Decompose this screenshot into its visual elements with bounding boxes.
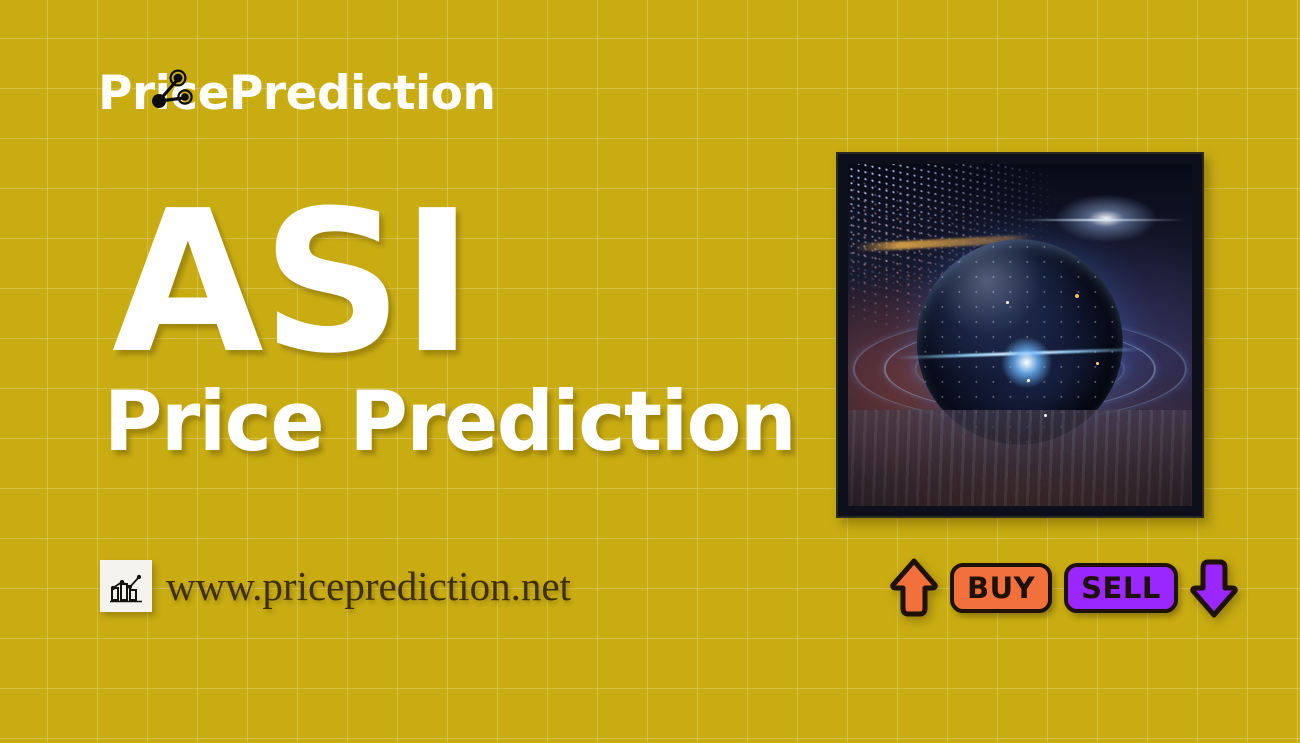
artwork-horizon-line — [1020, 219, 1185, 221]
bar-chart-trend-icon — [100, 560, 152, 612]
arrow-up-icon[interactable] — [890, 558, 938, 618]
page-subtitle: Price Prediction — [104, 380, 795, 463]
arrow-down-icon[interactable] — [1190, 558, 1238, 618]
page-title: ASI — [112, 185, 472, 381]
website-url-row[interactable]: www.priceprediction.net — [100, 560, 571, 612]
buy-button[interactable]: BUY — [950, 563, 1052, 613]
token-artwork-image — [848, 164, 1192, 506]
action-buttons-row: BUY SELL — [890, 558, 1238, 618]
banner-canvas: PricePrediction ASI Price Prediction www… — [0, 0, 1300, 743]
artwork-spark — [1044, 414, 1047, 417]
sell-button[interactable]: SELL — [1064, 563, 1178, 613]
network-nodes-icon — [148, 67, 194, 113]
brand-logo[interactable]: PricePrediction — [98, 70, 495, 117]
artwork-platform-ground — [848, 410, 1192, 506]
artwork-spark — [1075, 294, 1079, 298]
website-url-text: www.priceprediction.net — [166, 562, 571, 610]
token-artwork-frame — [836, 152, 1204, 518]
